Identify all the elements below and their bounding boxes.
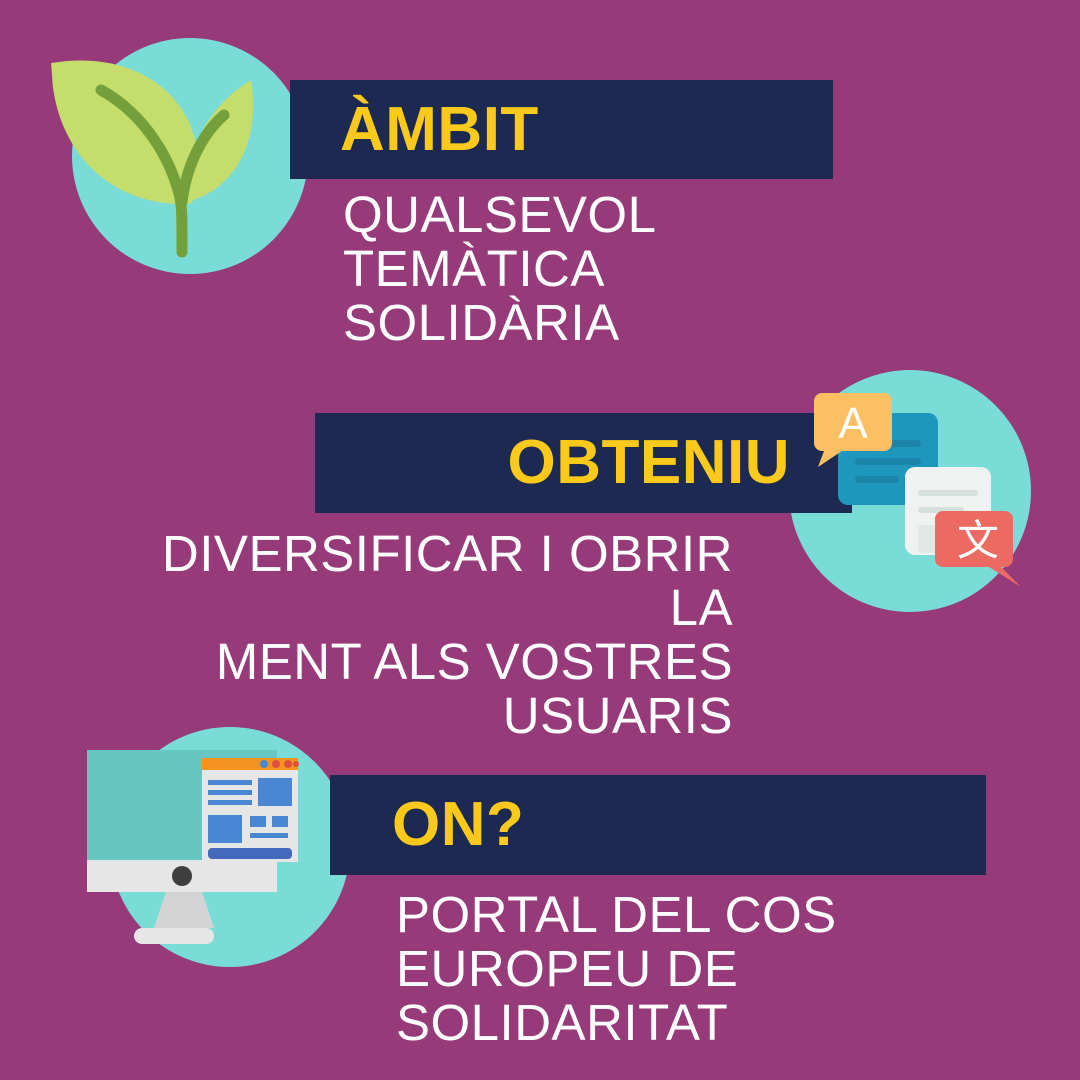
- section-body-on: PORTAL DEL COS EUROPEU DE SOLIDARITAT: [396, 888, 916, 1050]
- translate-cjk-glyph: 文: [957, 516, 999, 565]
- browser-dot-4: [293, 761, 299, 767]
- infographic-canvas: ÀMBIT QUALSEVOL TEMÀTICA SOLIDÀRIA OBTEN…: [0, 0, 1080, 1080]
- desktop-monitor-icon: [82, 740, 362, 965]
- translate-latin-glyph: A: [838, 399, 868, 448]
- section-title-ambit: ÀMBIT: [340, 99, 539, 161]
- section-body-ambit: QUALSEVOL TEMÀTICA SOLIDÀRIA: [343, 188, 823, 350]
- section-bar-obteniu: OBTENIU: [315, 413, 852, 513]
- browser-dot-3: [284, 760, 292, 768]
- monitor-power-dot: [172, 866, 192, 886]
- section-bar-on: ON?: [330, 775, 986, 875]
- browser-dot-1: [260, 760, 268, 768]
- translation-bubbles-icon: A 文: [800, 380, 1030, 610]
- section-title-on: ON?: [392, 794, 524, 856]
- section-body-obteniu: DIVERSIFICAR I OBRIR LA MENT ALS VOSTRES…: [150, 527, 733, 743]
- section-bar-ambit: ÀMBIT: [290, 80, 833, 179]
- browser-dot-2: [272, 760, 280, 768]
- plant-sprout-icon: [46, 30, 336, 290]
- section-title-obteniu: OBTENIU: [508, 432, 791, 494]
